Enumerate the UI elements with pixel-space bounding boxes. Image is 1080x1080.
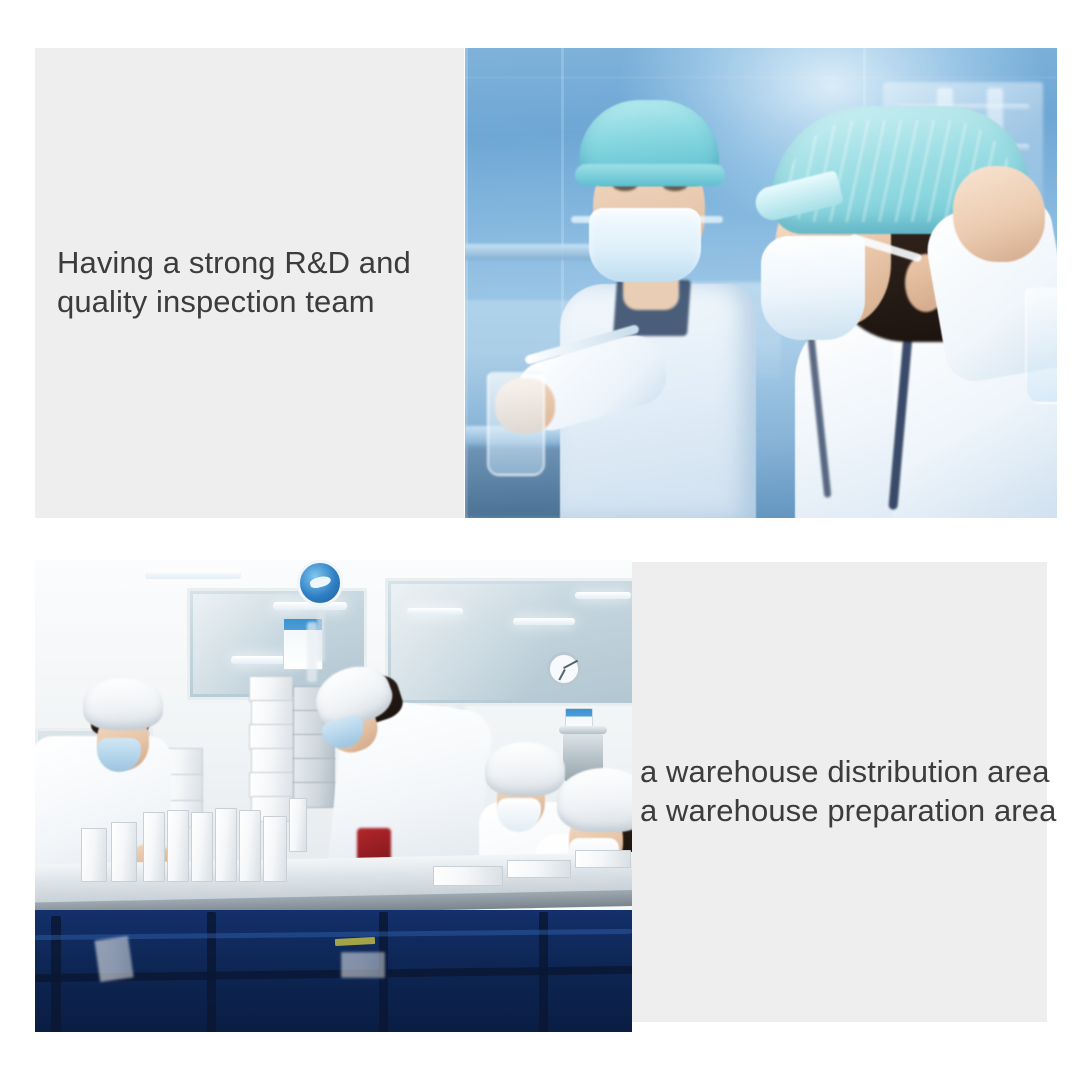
warehouse-window-right-glare [391, 584, 629, 700]
wall-clock [547, 652, 581, 686]
flat-box-1 [433, 866, 503, 886]
under-table-item-2 [341, 952, 385, 978]
packer-1-hairnet [83, 678, 163, 730]
table-carton-6 [111, 822, 137, 882]
lab-worker-b-face-mask [761, 236, 865, 340]
top-caption-line-1: Having a strong R&D and [57, 243, 411, 282]
bottom-caption: a warehouse distribution area a warehous… [640, 752, 1056, 830]
table-carton-4 [215, 808, 237, 882]
packer-3-hairnet [485, 742, 565, 796]
flat-box-3 [575, 850, 631, 868]
stacked-box-a2 [251, 700, 295, 726]
warehouse-packing-photo [35, 560, 632, 1032]
top-caption-line-2: quality inspection team [57, 282, 411, 321]
bottom-caption-line-2: a warehouse preparation area [640, 791, 1056, 830]
table-carton-9 [289, 798, 307, 852]
lab-ceiling-line [465, 76, 1057, 79]
table-carton-8 [263, 816, 287, 882]
packer-4-hairnet [557, 768, 632, 832]
lab-beaker-held [1025, 286, 1057, 404]
table-carton-5 [239, 810, 261, 882]
hanging-tube-2 [317, 610, 325, 662]
table-carton-3 [191, 812, 213, 882]
lab-worker-a-hairnet-rim [575, 164, 725, 186]
under-table-item-1 [94, 936, 134, 982]
lab-gloved-hand [953, 166, 1045, 262]
stacked-box-a3 [249, 724, 295, 750]
ceiling-light-3 [407, 608, 463, 615]
stacked-box-a4 [251, 748, 295, 774]
lab-qc-team-photo [465, 48, 1057, 518]
stacked-box-b4 [293, 758, 335, 784]
slide-canvas: Having a strong R&D and quality inspecti… [0, 0, 1080, 1080]
table-carton-1 [143, 812, 165, 882]
lab-worker-a-mask-strap-left [571, 216, 597, 223]
ceiling-light-1 [145, 570, 241, 579]
bottom-caption-line-1: a warehouse distribution area [640, 752, 1056, 791]
table-carton-7 [81, 828, 107, 882]
flat-box-2 [507, 860, 571, 878]
ceiling-light-4 [513, 618, 575, 625]
ceiling-light-6 [575, 592, 631, 599]
top-caption: Having a strong R&D and quality inspecti… [57, 243, 411, 321]
blue-circular-sign [297, 560, 343, 606]
stacked-box-a1 [249, 676, 293, 702]
stacked-box-a5 [249, 772, 295, 798]
table-carton-2 [167, 810, 189, 882]
lab-worker-a-mask-strap-right [697, 216, 723, 223]
lab-beaker-left [487, 372, 545, 476]
lab-worker-a-face-mask [589, 208, 701, 282]
hanging-tube-1 [307, 622, 317, 682]
